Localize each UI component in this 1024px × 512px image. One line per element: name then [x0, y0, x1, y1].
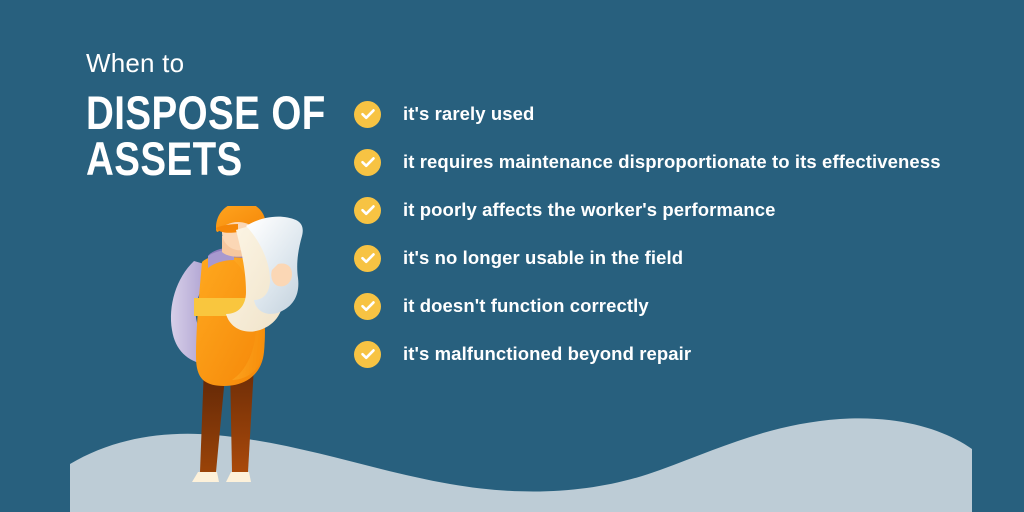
eyebrow-text: When to [86, 50, 378, 76]
check-circle-icon [354, 293, 381, 320]
list-item-label: it's no longer usable in the field [403, 247, 683, 269]
worker-illustration [150, 206, 340, 506]
heading-block: When to DISPOSE OF ASSETS [86, 50, 378, 182]
infographic-canvas: When to DISPOSE OF ASSETS [0, 0, 1024, 512]
list-item-label: it's rarely used [403, 103, 534, 125]
list-item: it's rarely used [354, 100, 994, 128]
list-item: it requires maintenance disproportionate… [354, 148, 994, 176]
list-item-label: it requires maintenance disproportionate… [403, 151, 941, 173]
check-circle-icon [354, 101, 381, 128]
list-item-label: it's malfunctioned beyond repair [403, 343, 691, 365]
check-circle-icon [354, 245, 381, 272]
list-item-label: it poorly affects the worker's performan… [403, 199, 776, 221]
page-title: DISPOSE OF ASSETS [86, 90, 326, 182]
list-item: it's malfunctioned beyond repair [354, 340, 994, 368]
list-item: it's no longer usable in the field [354, 244, 994, 272]
check-circle-icon [354, 341, 381, 368]
list-item: it poorly affects the worker's performan… [354, 196, 994, 224]
worker-shoe-left [192, 472, 219, 482]
benefits-checklist: it's rarely used it requires maintenance… [354, 100, 994, 368]
list-item: it doesn't function correctly [354, 292, 994, 320]
check-circle-icon [354, 149, 381, 176]
worker-shoe-right [226, 472, 251, 482]
check-circle-icon [354, 197, 381, 224]
list-item-label: it doesn't function correctly [403, 295, 649, 317]
